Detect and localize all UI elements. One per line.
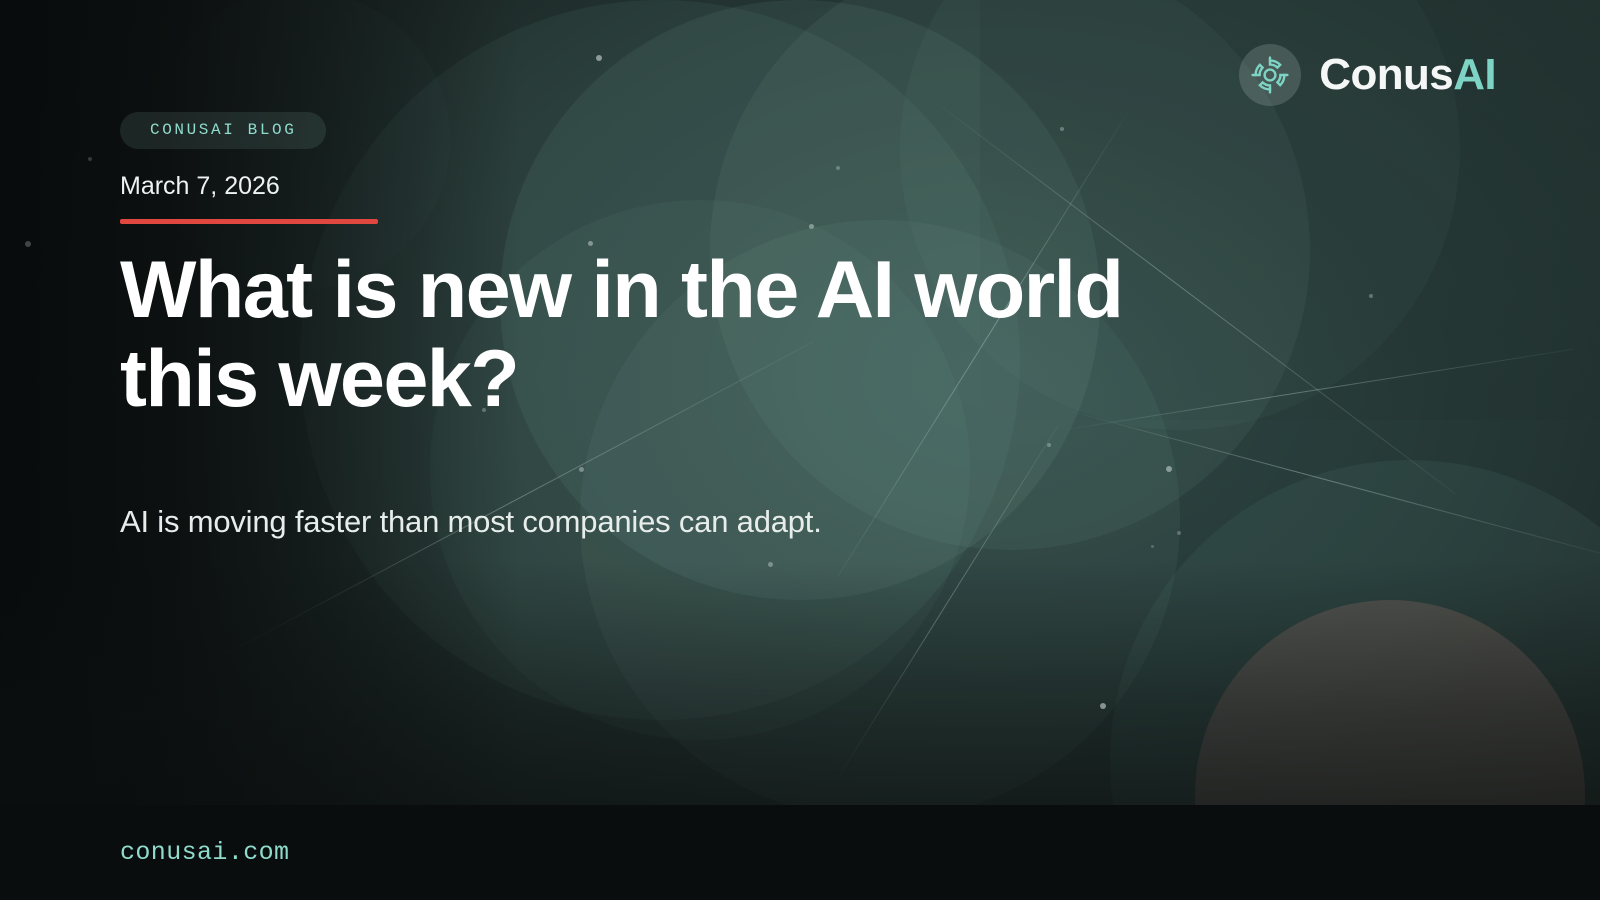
footer-website-url[interactable]: conusai.com (120, 838, 289, 867)
publish-date: March 7, 2026 (120, 173, 1240, 201)
accent-rule (120, 219, 378, 224)
logo-wordmark-accent: AI (1453, 50, 1496, 99)
logo-wordmark-primary: Conus (1319, 50, 1453, 99)
logo-wordmark: ConusAI (1319, 53, 1496, 97)
hero-card: ConusAI CONUSAI BLOG March 7, 2026 What … (0, 0, 1600, 900)
hero-content: CONUSAI BLOG March 7, 2026 What is new i… (120, 0, 1240, 574)
hero-subtitle: AI is moving faster than most companies … (120, 501, 1240, 543)
blog-kicker-badge: CONUSAI BLOG (120, 112, 326, 149)
brand-logo[interactable]: ConusAI (1239, 44, 1496, 106)
concentric-gear-ring-icon (1250, 55, 1290, 95)
logo-badge (1239, 44, 1301, 106)
footer-bar: conusai.com (0, 805, 1600, 900)
page-title: What is new in the AI world this week? (120, 246, 1190, 426)
